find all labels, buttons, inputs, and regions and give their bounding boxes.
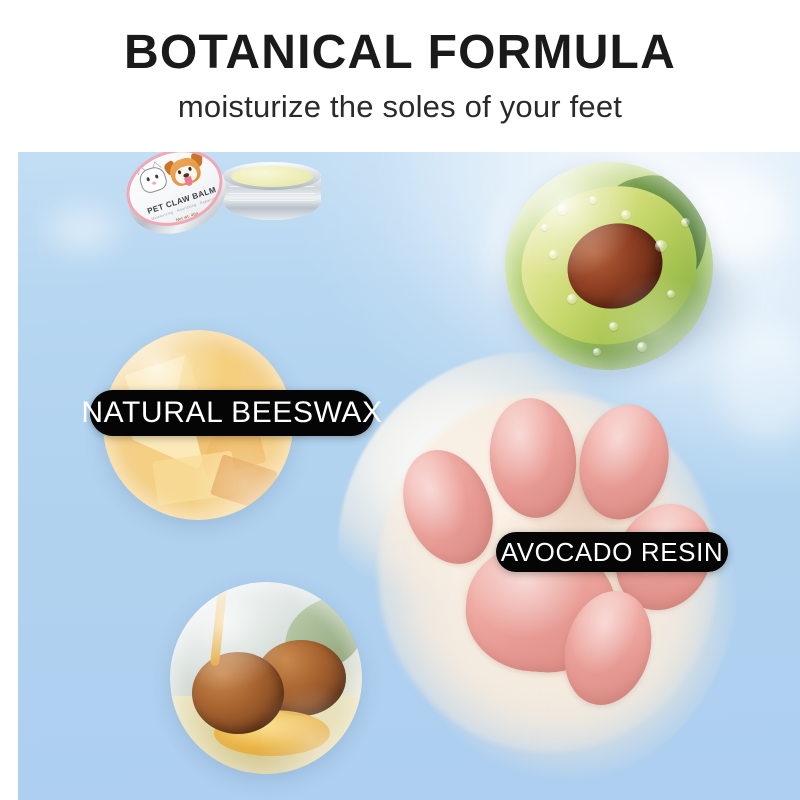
water-droplet <box>541 224 548 231</box>
jojoba-contents <box>170 582 362 774</box>
page-subtitle: moisturize the soles of your feet <box>0 90 800 124</box>
tin-lid: PET CLAW BALM Moisturizing · Nourishing … <box>110 152 244 256</box>
water-droplet <box>637 342 647 352</box>
water-droplet <box>567 294 577 304</box>
header-banner: BOTANICAL FORMULA moisturize the soles o… <box>0 0 800 152</box>
water-droplet <box>593 348 601 356</box>
tin-ridge <box>229 200 315 201</box>
jojoba-seed <box>192 652 284 734</box>
water-droplet <box>589 196 597 204</box>
water-droplet <box>557 204 568 215</box>
product-photo-stage: PET CLAW BALM Moisturizing · Nourishing … <box>18 152 800 800</box>
jojoba-sphere <box>170 582 362 774</box>
wax-shard <box>210 454 278 512</box>
tin-lid-label: PET CLAW BALM Moisturizing · Nourishing … <box>116 152 232 238</box>
water-droplet <box>549 250 558 259</box>
page-title: BOTANICAL FORMULA <box>0 28 800 78</box>
tin-ridge <box>229 193 315 194</box>
water-droplet <box>621 210 631 220</box>
ingredient-label-avocado: AVOCADO RESIN <box>496 532 728 572</box>
avocado-sphere <box>505 162 713 370</box>
ingredient-label-beeswax: NATURAL BEESWAX <box>90 390 374 436</box>
water-droplet <box>681 218 690 227</box>
water-droplet <box>655 240 667 252</box>
water-droplet <box>609 322 618 331</box>
water-droplet <box>667 290 675 298</box>
cat-paw-image <box>338 352 758 800</box>
avocado-contents <box>505 162 713 370</box>
balm-surface <box>231 166 313 187</box>
background-bokeh-blob <box>48 207 118 252</box>
product-tin: PET CLAW BALM Moisturizing · Nourishing … <box>123 152 323 252</box>
